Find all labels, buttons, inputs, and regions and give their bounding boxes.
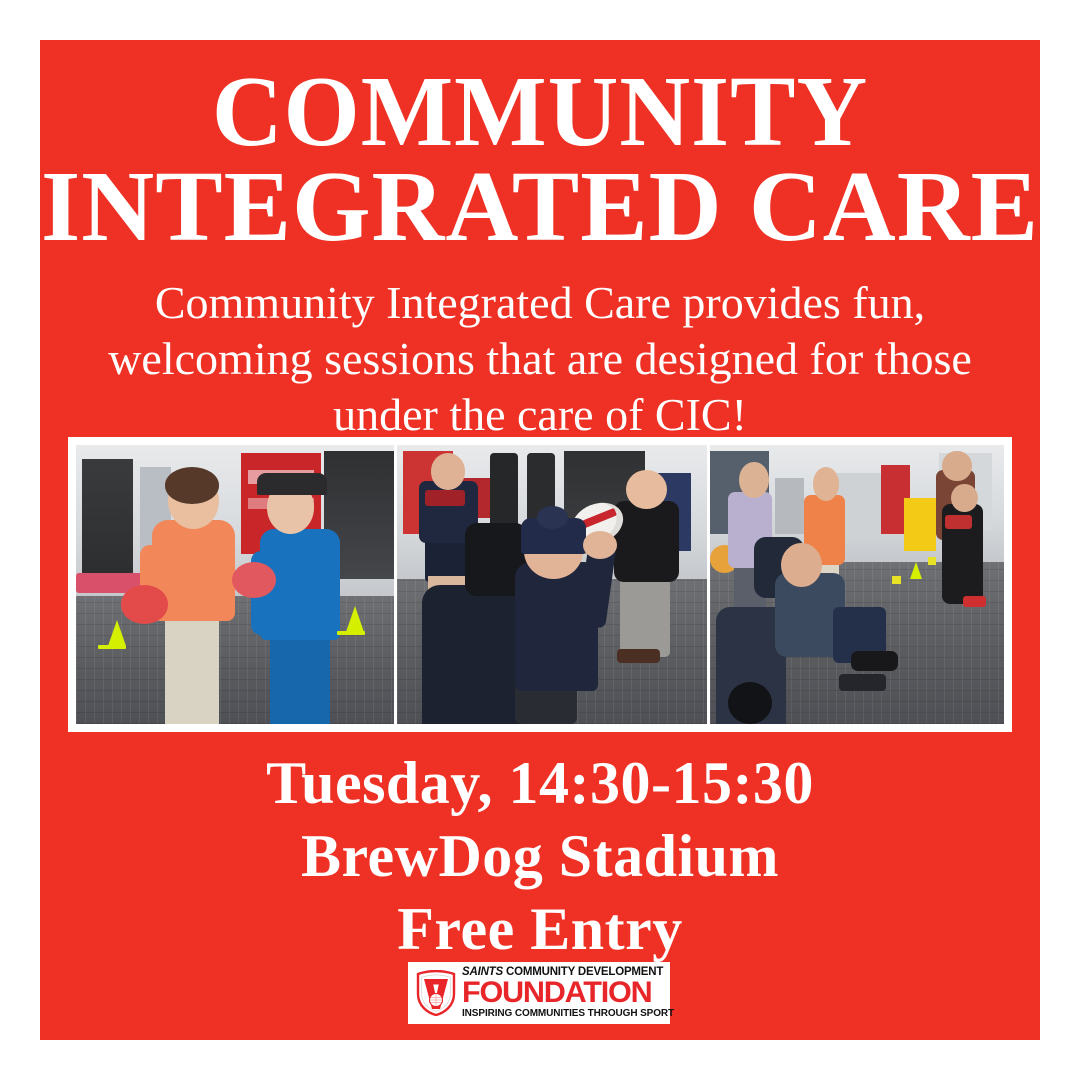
saints-crest-icon xyxy=(416,970,456,1016)
staff-member-shorts xyxy=(425,537,468,582)
training-cone-two xyxy=(346,606,364,632)
training-cone-base xyxy=(98,645,126,649)
event-venue: BrewDog Stadium xyxy=(40,820,1040,893)
staff-member-kit-stripe xyxy=(425,490,465,507)
participant-orange-head-right xyxy=(813,467,839,500)
page-title: COMMUNITY INTEGRATED CARE xyxy=(40,62,1040,256)
training-cone-base-two xyxy=(337,631,365,635)
wheelchair-back xyxy=(422,585,521,725)
background-cabinet xyxy=(775,478,804,534)
coach-trousers xyxy=(620,573,670,657)
visitor-head xyxy=(739,462,768,498)
foundation-logo-text: SAINTS COMMUNITY DEVELOPMENT FOUNDATION … xyxy=(462,967,674,1019)
foundation-logo: SAINTS COMMUNITY DEVELOPMENT FOUNDATION … xyxy=(408,962,670,1024)
title-line-two: INTEGRATED CARE xyxy=(40,157,1040,256)
participant-kit-red-flash xyxy=(945,515,971,529)
logo-foundation-word: FOUNDATION xyxy=(462,978,678,1009)
bobble-hat-pom xyxy=(537,506,568,528)
wheelchair-footplate xyxy=(839,674,886,691)
title-line-one: COMMUNITY xyxy=(55,62,1025,161)
participant-red-trainers xyxy=(963,596,987,607)
red-ball-left xyxy=(121,585,169,624)
logo-tagline-bottom: INSPIRING COMMUNITIES THROUGH SPORT xyxy=(462,1009,674,1019)
photo-panel-middle xyxy=(397,445,707,724)
participant-orange-legs xyxy=(165,612,219,724)
participant-wheelchair-head-right xyxy=(781,543,822,588)
coach-shoe xyxy=(617,649,660,663)
photo-strip xyxy=(68,437,1012,732)
photo-panel-left xyxy=(76,445,394,724)
event-day-time: Tuesday, 14:30-15:30 xyxy=(40,747,1040,820)
background-yellow-crash-mat xyxy=(904,498,936,551)
participant-wheelchair-shoe xyxy=(851,651,898,671)
subtitle-description: Community Integrated Care provides fun, … xyxy=(95,275,985,443)
support-worker-head xyxy=(942,451,971,482)
background-equipment-rack xyxy=(82,459,133,582)
event-price: Free Entry xyxy=(40,893,1040,966)
participant-head-right xyxy=(951,484,977,512)
training-cone xyxy=(108,620,126,646)
coach-head xyxy=(626,470,666,509)
photo-panel-right xyxy=(710,445,1004,724)
staff-member-head xyxy=(431,453,465,489)
participant-blue-cap xyxy=(257,473,327,495)
training-cone-right xyxy=(910,562,922,579)
participant-blue-legs xyxy=(270,629,330,724)
floor-marker-yellow xyxy=(892,576,901,584)
wheelchair-wheel xyxy=(728,682,772,724)
participant-orange-hair xyxy=(165,467,219,503)
floor-marker-yellow-two xyxy=(928,557,937,565)
poster-canvas: COMMUNITY INTEGRATED CARE Community Inte… xyxy=(40,40,1040,1040)
event-details: Tuesday, 14:30-15:30 BrewDog Stadium Fre… xyxy=(40,747,1040,967)
